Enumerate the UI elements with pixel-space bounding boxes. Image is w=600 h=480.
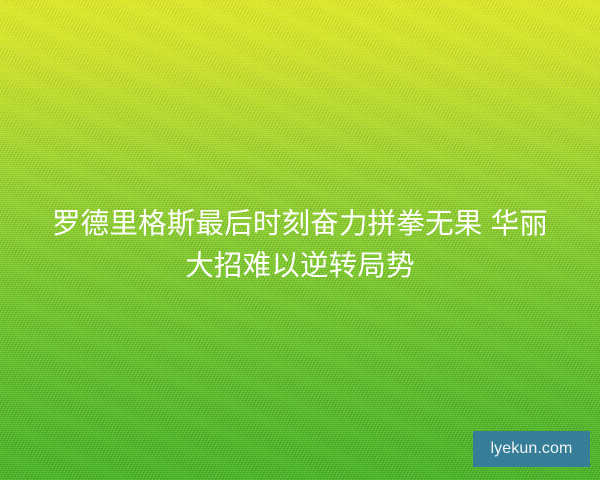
watermark-label: lyekun.com (491, 441, 573, 457)
image-canvas: 罗德里格斯最后时刻奋力拼拳无果 华丽 大招难以逆转局势 lyekun.com (0, 0, 600, 480)
headline-text: 罗德里格斯最后时刻奋力拼拳无果 华丽 大招难以逆转局势 (0, 203, 600, 287)
watermark-badge: lyekun.com (473, 431, 590, 467)
